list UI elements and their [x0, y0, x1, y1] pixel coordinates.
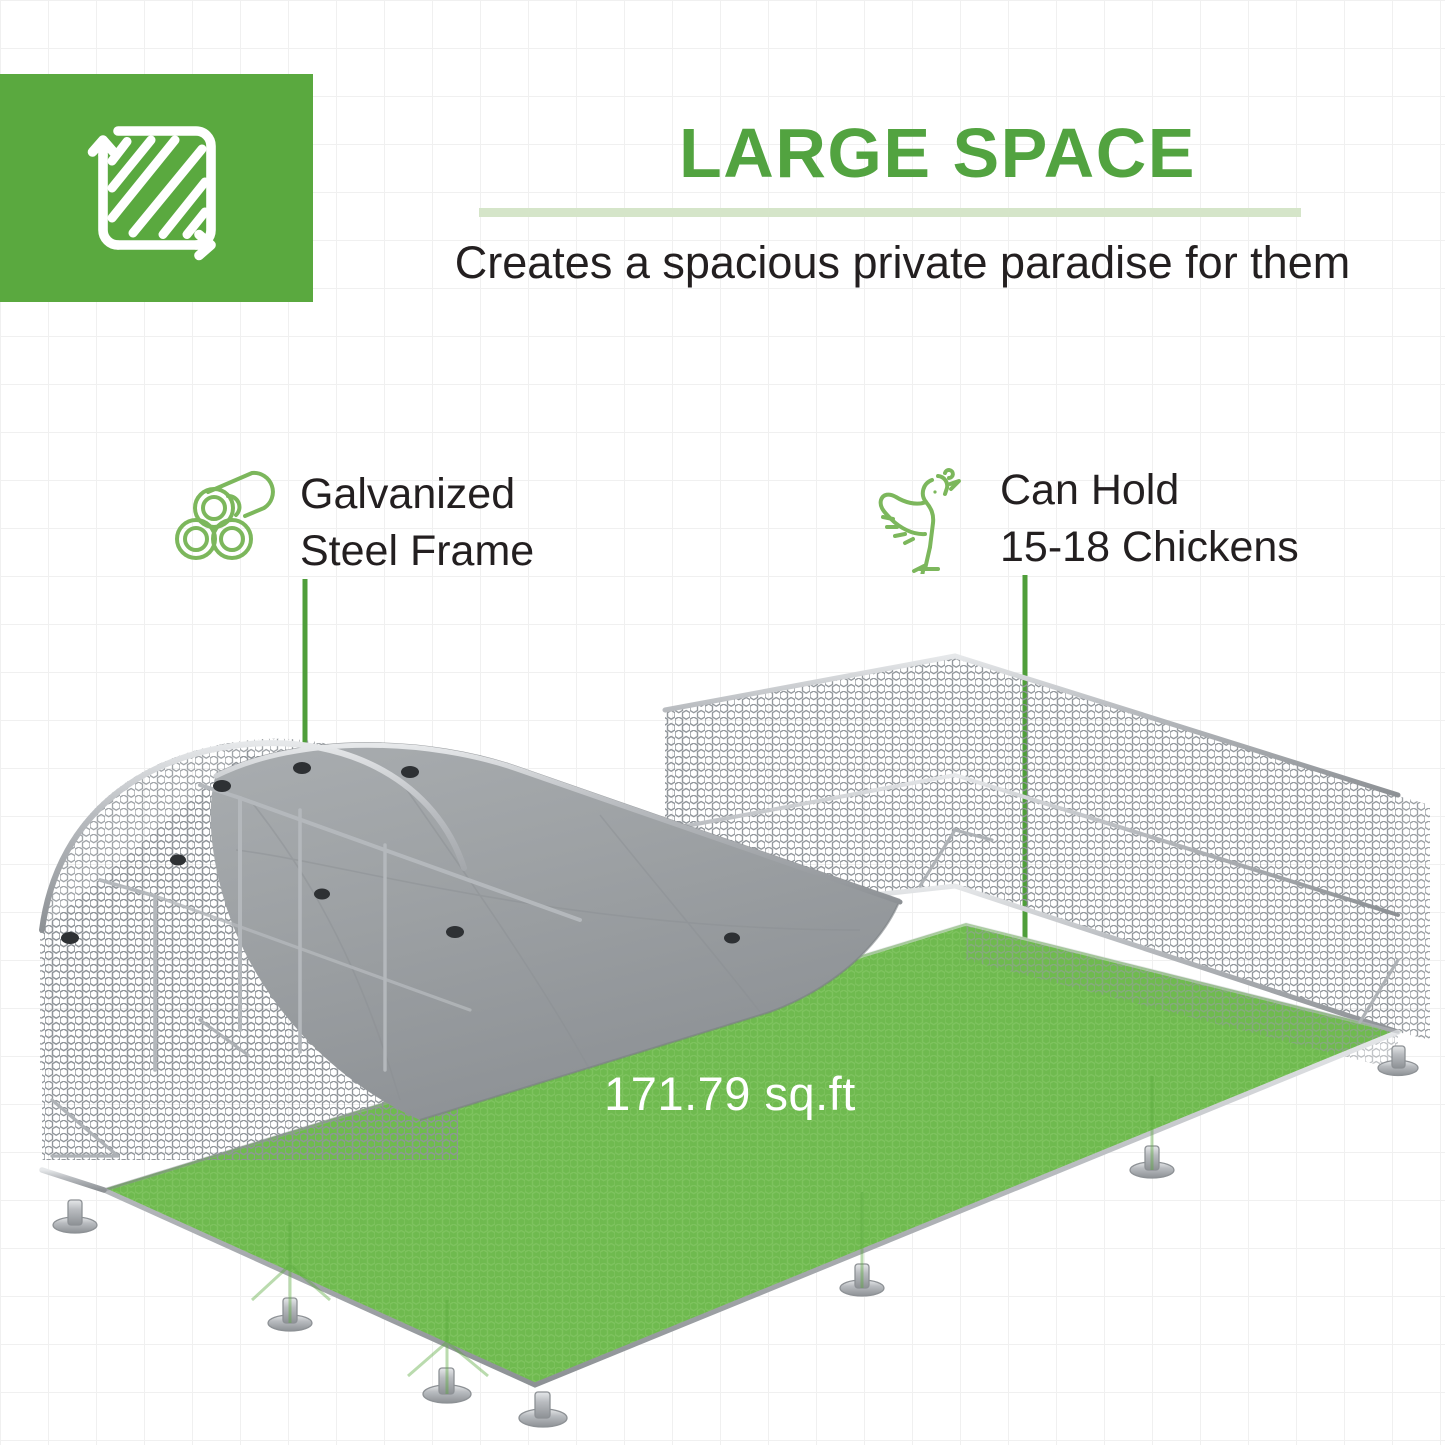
callout-label: Can Hold 15-18 Chickens	[1000, 462, 1299, 576]
page-title: LARGE SPACE	[430, 110, 1445, 196]
title-divider	[479, 208, 1301, 217]
page-subtitle: Creates a spacious private paradise for …	[360, 228, 1445, 298]
infographic-canvas: LARGE SPACE Creates a spacious private p…	[0, 0, 1445, 1445]
callout-label: Galvanized Steel Frame	[300, 466, 534, 580]
area-expand-icon	[82, 113, 232, 263]
steel-pipes-icon	[168, 466, 278, 566]
area-badge	[0, 74, 313, 302]
callout-galvanized-steel-frame: Galvanized Steel Frame	[168, 466, 534, 580]
callout-chicken-capacity: Can Hold 15-18 Chickens	[862, 462, 1299, 576]
chicken-icon	[862, 462, 974, 574]
chicken-coop-illustration	[0, 600, 1445, 1445]
